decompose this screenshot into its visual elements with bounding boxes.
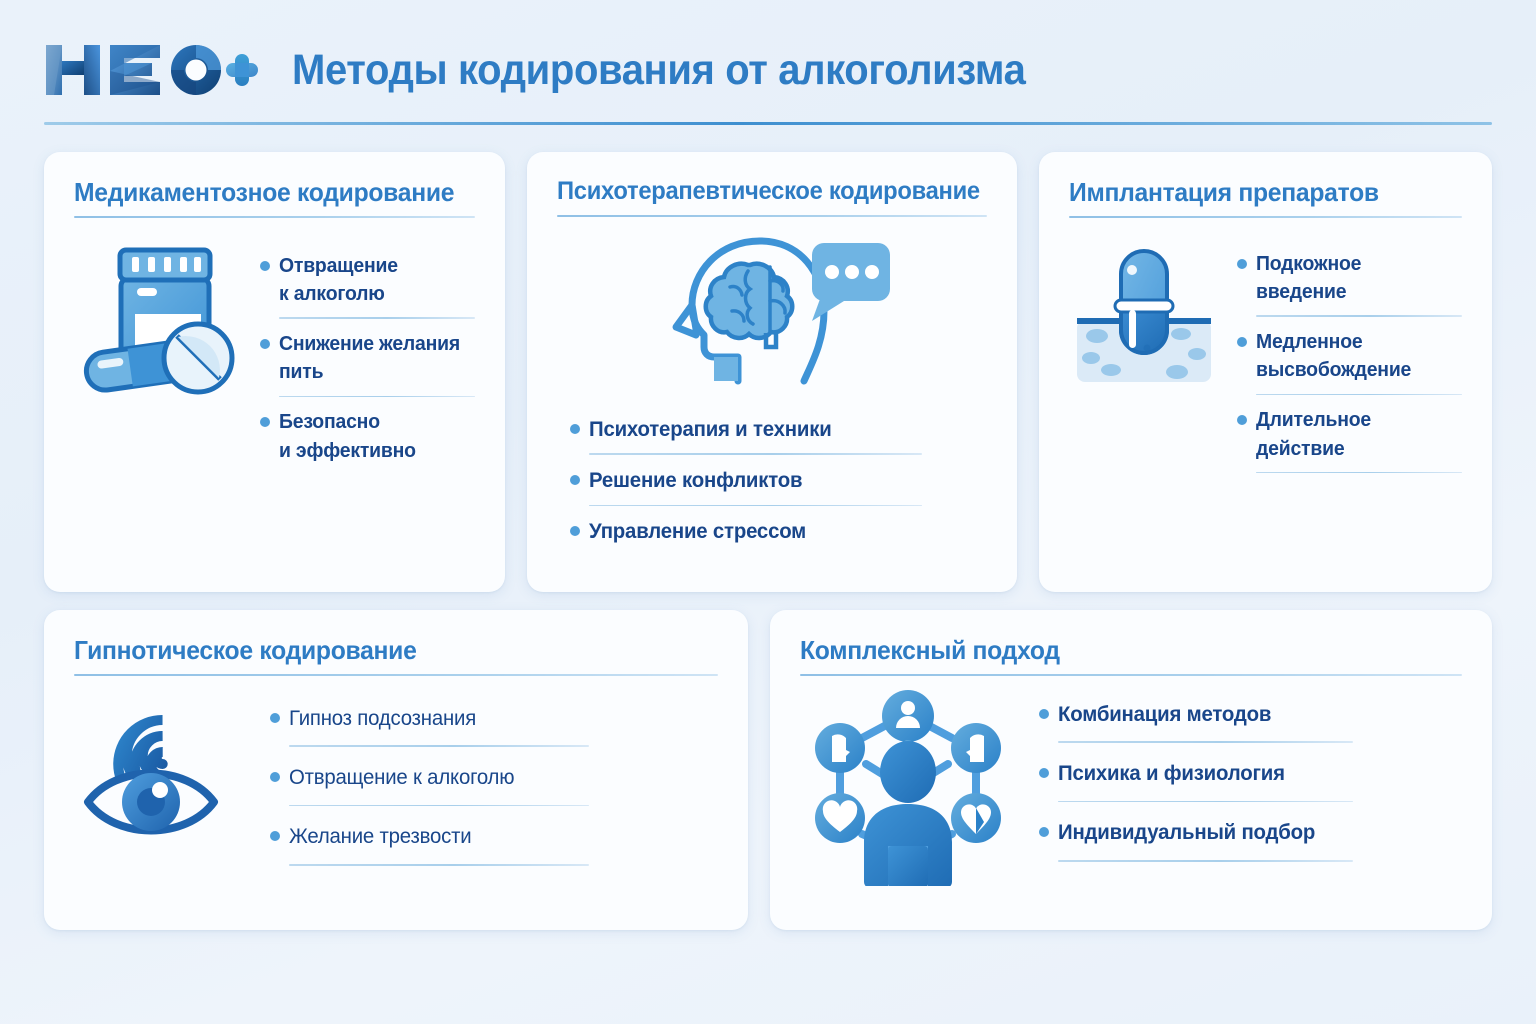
card-psihoterapevticheskoe[interactable]: Психотерапевтическое кодирование <box>527 152 1017 592</box>
title-divider <box>800 674 1462 676</box>
bullet-list: Психотерапия и техники Решение конфликто… <box>544 415 1000 569</box>
item-divider <box>289 745 589 747</box>
list-item[interactable]: Длительное действие <box>1237 406 1462 473</box>
cards-row-bottom: Гипнотическое кодирование <box>44 610 1492 930</box>
list-item[interactable]: Управление стрессом <box>570 517 1000 557</box>
item-divider <box>1058 741 1353 743</box>
bullet-dot-icon <box>1237 259 1247 269</box>
item-divider <box>289 864 589 866</box>
bullet-list: Подкожное введение Медленное высвобожден… <box>1225 238 1462 485</box>
list-item[interactable]: Безопасно и эффективно <box>260 408 475 475</box>
bullet-line-1: Длительное действие <box>1256 406 1456 463</box>
page-header: Методы кодирования от алкоголизма <box>44 0 1492 118</box>
list-item[interactable]: Комбинация методов <box>1039 700 1462 743</box>
bullet-dot-icon <box>1039 768 1049 778</box>
bullet-dot-icon <box>270 831 280 841</box>
bullet-line-1: Безопасно <box>279 411 380 433</box>
item-divider <box>589 505 922 507</box>
bullet-line-1: Психотерапия и техники <box>589 415 832 445</box>
bullet-dot-icon <box>1039 827 1049 837</box>
list-item[interactable]: Медленное высвобождение <box>1237 328 1462 395</box>
bullet-line-1: Отвращение к алкоголю <box>289 763 514 793</box>
title-divider <box>557 215 987 217</box>
people-network-icon <box>800 686 1015 891</box>
bullet-line-1: Комбинация методов <box>1058 700 1271 730</box>
item-divider <box>589 453 922 455</box>
head-brain-speech-icon <box>652 229 892 399</box>
bullet-line-1: Управление стрессом <box>589 517 806 547</box>
item-divider <box>279 396 475 398</box>
bullet-line-1: Отвращение <box>279 255 398 277</box>
bullet-line-2: пить <box>279 361 323 383</box>
list-item[interactable]: Отвращение к алкоголю <box>260 252 475 319</box>
bullet-dot-icon <box>260 261 270 271</box>
page-title: Методы кодирования от алкоголизма <box>292 46 1025 95</box>
item-divider <box>1058 801 1353 803</box>
bullet-line-1: Подкожное введение <box>1256 250 1456 307</box>
bullet-dot-icon <box>570 475 580 485</box>
item-divider <box>1256 472 1462 474</box>
bullet-dot-icon <box>1039 709 1049 719</box>
item-divider <box>1058 860 1353 862</box>
item-divider <box>289 805 589 807</box>
bullet-dot-icon <box>270 713 280 723</box>
card-kompleksnyy[interactable]: Комплексный подход <box>770 610 1492 930</box>
card-implantaciya[interactable]: Имплантация препаратов <box>1039 152 1492 592</box>
bullet-list: Комбинация методов Психика и физиология <box>1039 686 1462 878</box>
bullet-line-2: высвобождение <box>1256 359 1411 381</box>
list-item[interactable]: Подкожное введение <box>1237 250 1462 317</box>
card-title: Психотерапевтическое кодирование <box>557 178 966 206</box>
bullet-dot-icon <box>570 526 580 536</box>
neo-plus-logo <box>44 41 258 99</box>
bullet-dot-icon <box>260 417 270 427</box>
title-divider <box>74 216 475 218</box>
card-title: Медикаментозное кодирование <box>74 178 455 207</box>
list-item[interactable]: Индивидуальный подбор <box>1039 818 1462 861</box>
item-divider <box>1256 315 1462 317</box>
cards-row-top: Медикаментозное кодирование <box>44 152 1492 592</box>
bullet-line-2: к алкоголю <box>279 283 385 305</box>
bullet-line-1: Желание трезвости <box>289 822 471 852</box>
bullet-dot-icon <box>1237 337 1247 347</box>
bullet-line-1: Медленное <box>1256 331 1362 353</box>
bullet-dot-icon <box>1237 415 1247 425</box>
bullet-line-1: Психика и физиология <box>1058 759 1285 789</box>
bullet-line-1: Индивидуальный подбор <box>1058 818 1315 848</box>
title-divider <box>1069 216 1462 218</box>
pill-bottle-icon <box>74 238 244 403</box>
card-title: Комплексный подход <box>800 636 1429 665</box>
card-medikamentoznoe[interactable]: Медикаментозное кодирование <box>44 152 505 592</box>
title-divider <box>74 674 718 676</box>
infographic-page: Методы кодирования от алкоголизма Медика… <box>0 0 1536 1024</box>
card-gipnoticheskoe[interactable]: Гипнотическое кодирование <box>44 610 748 930</box>
bullet-dot-icon <box>570 424 580 434</box>
bullet-dot-icon <box>270 772 280 782</box>
list-item[interactable]: Отвращение к алкоголю <box>270 763 718 806</box>
implant-capsule-icon <box>1069 238 1219 393</box>
bullet-line-1: Решение конфликтов <box>589 466 802 496</box>
list-item[interactable]: Психотерапия и техники <box>570 415 1000 455</box>
item-divider <box>279 317 475 319</box>
list-item[interactable]: Снижение желания пить <box>260 330 475 397</box>
card-title: Гипнотическое кодирование <box>74 636 686 665</box>
list-item[interactable]: Психика и физиология <box>1039 759 1462 802</box>
item-divider <box>1256 394 1462 396</box>
bullet-line-1: Снижение желания <box>279 333 460 355</box>
card-title: Имплантация препаратов <box>1069 178 1442 207</box>
spiral-eye-icon <box>74 690 244 855</box>
bullet-line-2: и эффективно <box>279 440 416 462</box>
list-item[interactable]: Желание трезвости <box>270 822 718 865</box>
bullet-line-1: Гипноз подсознания <box>289 704 476 734</box>
list-item[interactable]: Гипноз подсознания <box>270 704 718 747</box>
bullet-list: Гипноз подсознания Отвращение к алкоголю <box>270 690 718 882</box>
header-divider <box>44 122 1492 125</box>
bullet-list: Отвращение к алкоголю Снижение желания п… <box>250 238 475 487</box>
bullet-dot-icon <box>260 339 270 349</box>
list-item[interactable]: Решение конфликтов <box>570 466 1000 506</box>
